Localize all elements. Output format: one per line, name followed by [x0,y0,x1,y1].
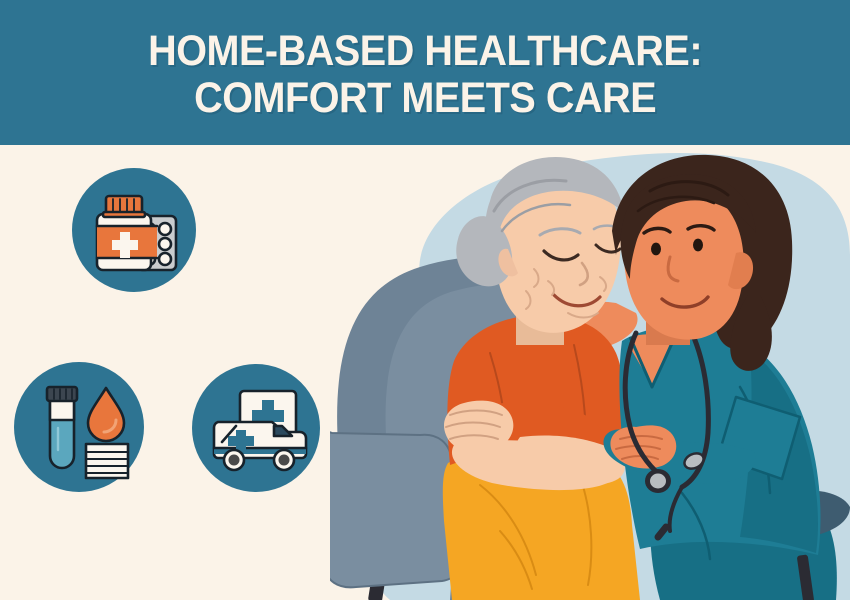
elderly-patient [443,157,640,600]
page-title-line-1: HOME-BASED HEALTHCARE: [148,29,702,74]
medicine-icon [72,168,196,292]
page-title-line-2: COMFORT MEETS CARE [194,76,656,121]
header-banner: HOME-BASED HEALTHCARE: COMFORT MEETS CAR… [0,0,850,145]
blood-test-icon [14,362,144,492]
poster-canvas: HOME-BASED HEALTHCARE: COMFORT MEETS CAR… [0,0,850,600]
ambulance-icon [192,364,320,492]
care-illustration [330,145,850,600]
